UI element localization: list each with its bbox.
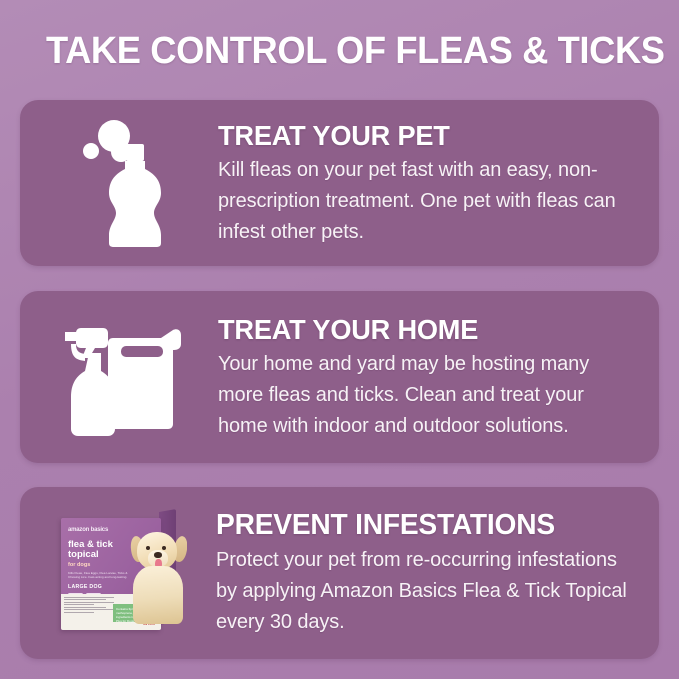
card-body: Protect your pet from re-occurring infes… [216, 544, 630, 637]
product-box-image: FLEA & TICK TOPICAL amazon basics flea &… [55, 510, 183, 636]
product-size-label: LARGE DOG [68, 584, 102, 590]
card-body: Your home and yard may be hosting many m… [218, 348, 630, 441]
product-description: Kills Fleas, Flea Eggs, Flea Larvae, Tic… [68, 571, 130, 579]
spray-bottle-and-jug-icon [55, 314, 183, 440]
shampoo-bottle-icon [69, 119, 169, 247]
product-fine-print [64, 597, 116, 614]
icon-zone [20, 100, 218, 266]
fine-print-line [64, 604, 94, 605]
info-card-prevent-infestations: FLEA & TICK TOPICAL amazon basics flea &… [20, 487, 659, 659]
dog-eye-left [146, 546, 150, 550]
card-heading: TREAT YOUR HOME [218, 313, 628, 346]
dog-nose [154, 552, 162, 558]
product-name: flea & tick topical [68, 540, 126, 560]
dog-photo [129, 526, 187, 624]
fine-print-line [64, 607, 106, 608]
card-heading: TREAT YOUR PET [218, 119, 628, 152]
text-zone: TREAT YOUR HOME Your home and yard may b… [218, 291, 649, 463]
info-card-treat-your-pet: TREAT YOUR PET Kill fleas on your pet fa… [20, 100, 659, 266]
fine-print-line [64, 602, 114, 603]
amazon-basics-logo: amazon basics [68, 527, 108, 533]
text-zone: TREAT YOUR PET Kill fleas on your pet fa… [218, 100, 649, 266]
fine-print-line [64, 612, 94, 613]
info-card-treat-your-home: TREAT YOUR HOME Your home and yard may b… [20, 291, 659, 463]
flea-tick-infographic: TAKE CONTROL OF FLEAS & TICKS [0, 0, 679, 679]
text-zone: PREVENT INFESTATIONS Protect your pet fr… [216, 487, 649, 659]
icon-zone [20, 291, 218, 463]
page-title: TAKE CONTROL OF FLEAS & TICKS [46, 26, 619, 78]
product-for-label: for dogs [68, 562, 90, 568]
icon-zone: FLEA & TICK TOPICAL amazon basics flea &… [20, 487, 218, 659]
fine-print-line [64, 609, 114, 610]
dog-eye-right [162, 546, 166, 550]
card-heading: PREVENT INFESTATIONS [216, 509, 628, 542]
dog-body [133, 566, 183, 624]
card-body: Kill fleas on your pet fast with an easy… [218, 154, 630, 247]
fine-print-line [64, 597, 114, 598]
fine-print-line [64, 599, 106, 600]
